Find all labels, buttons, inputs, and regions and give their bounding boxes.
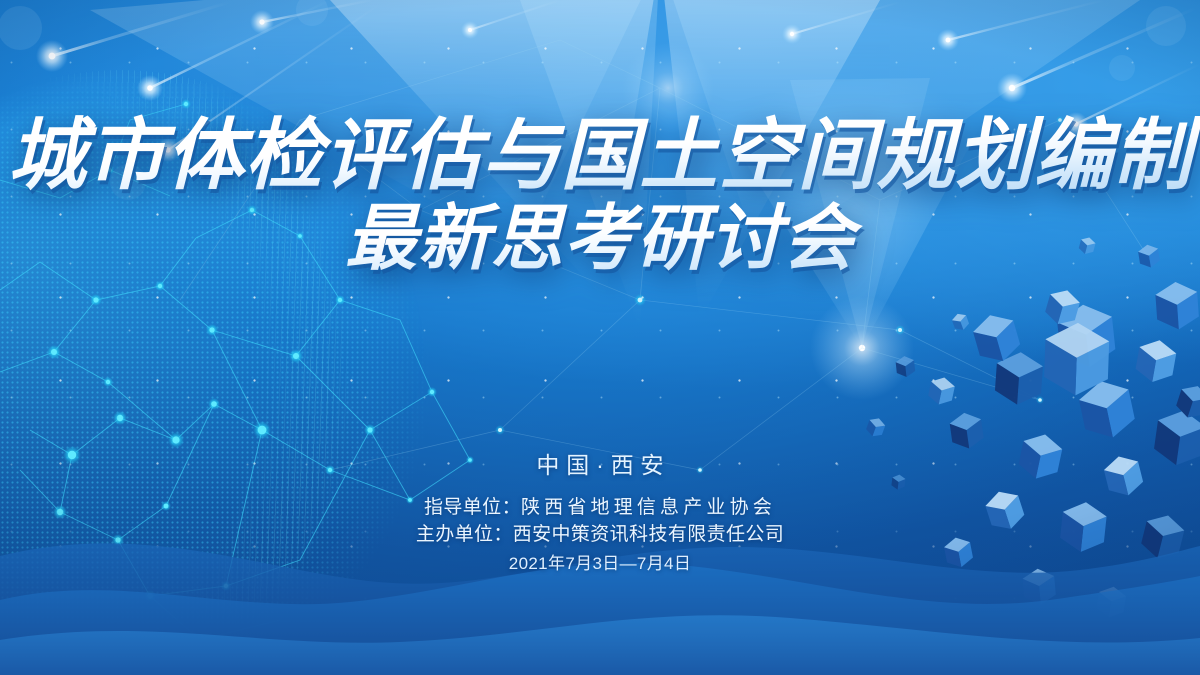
guiding-organization: 指导单位：陕西省地理信息产业协会 xyxy=(0,492,1200,519)
title-line-2: 最新思考研讨会 xyxy=(0,200,1200,278)
event-location: 中国·西安 xyxy=(0,446,1200,480)
event-date: 2021年7月3日—7月4日 xyxy=(0,549,1200,574)
banner-content: 城市体检评估与国土空间规划编制 最新思考研讨会 中国·西安 指导单位：陕西省地理… xyxy=(0,0,1200,675)
guiding-organization-label: 指导单位： xyxy=(424,497,521,518)
title-line-1: 城市体检评估与国土空间规划编制 xyxy=(0,113,1200,197)
host-organization-label: 主办单位： xyxy=(416,524,513,545)
host-organization-value: 西安中策资讯科技有限责任公司 xyxy=(513,524,784,545)
conference-banner: 城市体检评估与国土空间规划编制 最新思考研讨会 中国·西安 指导单位：陕西省地理… xyxy=(0,0,1200,675)
host-organization: 主办单位：西安中策资讯科技有限责任公司 xyxy=(0,519,1200,546)
guiding-organization-value: 陕西省地理信息产业协会 xyxy=(521,497,776,518)
